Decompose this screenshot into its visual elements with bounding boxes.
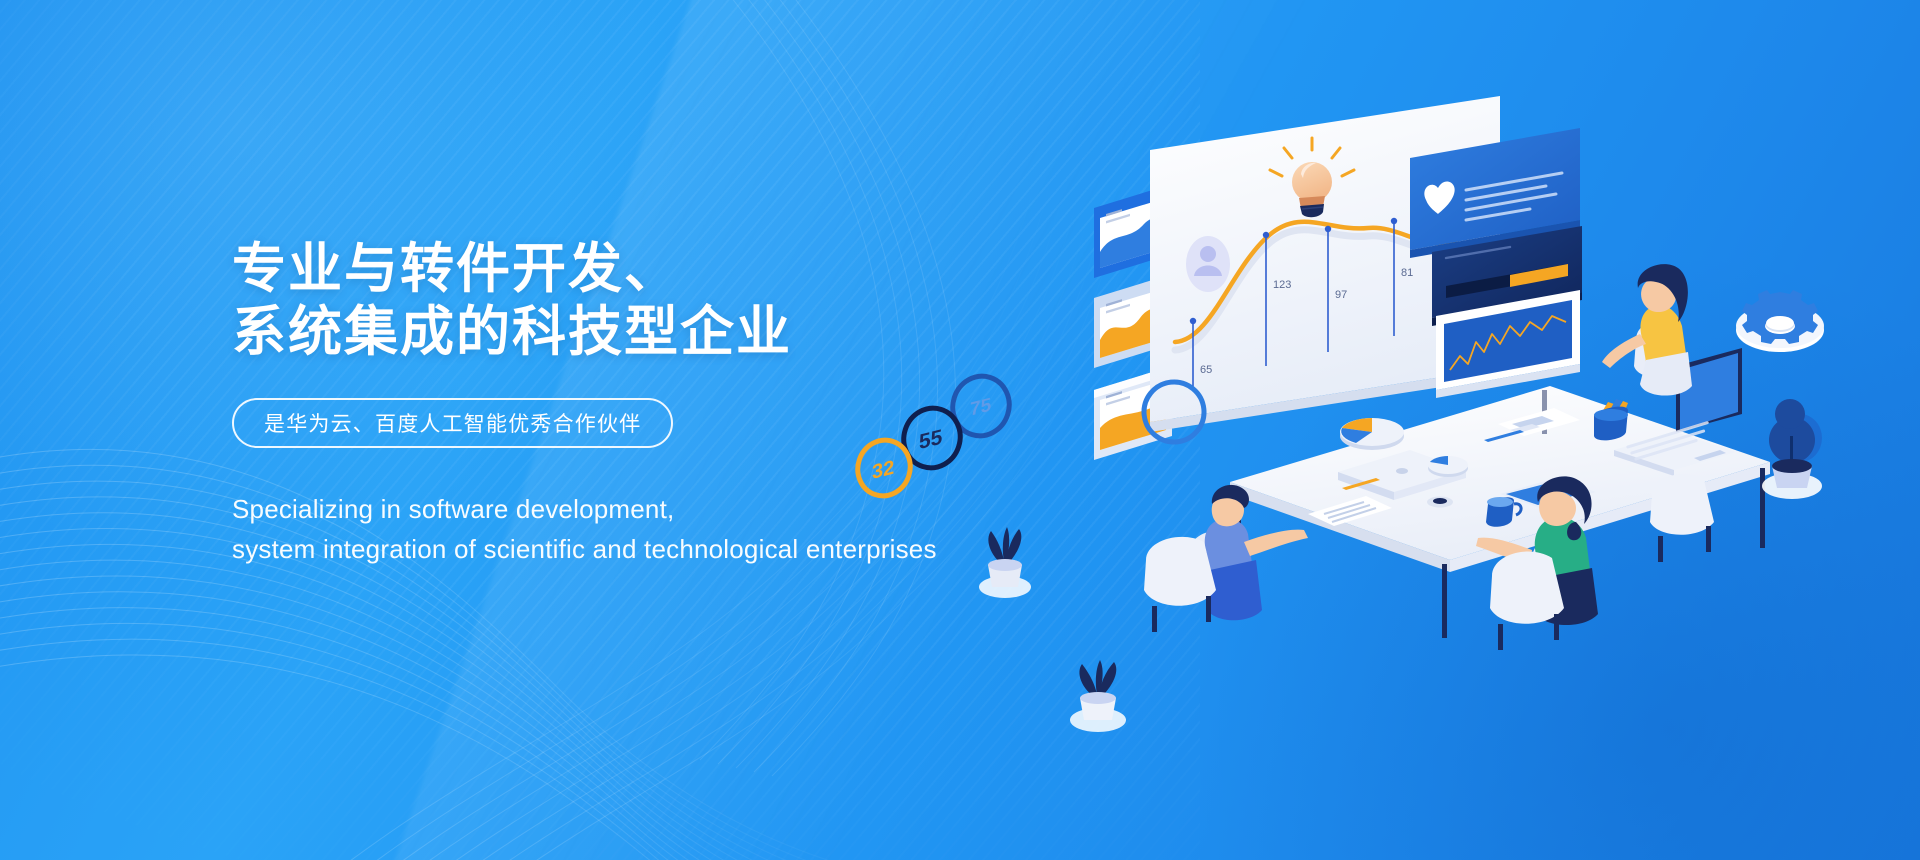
chart-label-81: 81 xyxy=(1401,267,1413,279)
pie-chart-small-icon xyxy=(1428,456,1468,477)
isometric-illustration: 65 123 97 81 xyxy=(1080,90,1900,630)
chair-left xyxy=(1144,537,1216,632)
pie-chart-icon xyxy=(1340,418,1404,450)
plant-topiary-icon xyxy=(1762,399,1822,499)
subtitle-line-1: Specializing in software development, xyxy=(232,490,1072,528)
chair-far-right xyxy=(1650,474,1714,562)
hero-banner: 65 123 97 81 xyxy=(0,0,1920,860)
gear-icon xyxy=(1736,290,1824,352)
person-standing-top xyxy=(1602,264,1692,395)
subtitle: Specializing in software development, sy… xyxy=(232,490,1072,568)
partner-badge: 是华为云、百度人工智能优秀合作伙伴 xyxy=(232,398,673,448)
chair-right xyxy=(1490,552,1564,650)
chart-label-65: 65 xyxy=(1200,364,1212,376)
avatar xyxy=(1186,236,1230,292)
hero-copy: 专业与转件开发、 系统集成的科技型企业 是华为云、百度人工智能优秀合作伙伴 Sp… xyxy=(232,238,1072,568)
headline-line-2: 系统集成的科技型企业 xyxy=(232,301,1072,364)
chart-label-97: 97 xyxy=(1335,289,1347,301)
headline-line-1: 专业与转件开发、 xyxy=(232,238,1072,301)
subtitle-line-2: system integration of scientific and tec… xyxy=(232,530,1072,568)
chart-label-123: 123 xyxy=(1273,279,1291,291)
plant-bottom-icon xyxy=(1070,660,1126,732)
